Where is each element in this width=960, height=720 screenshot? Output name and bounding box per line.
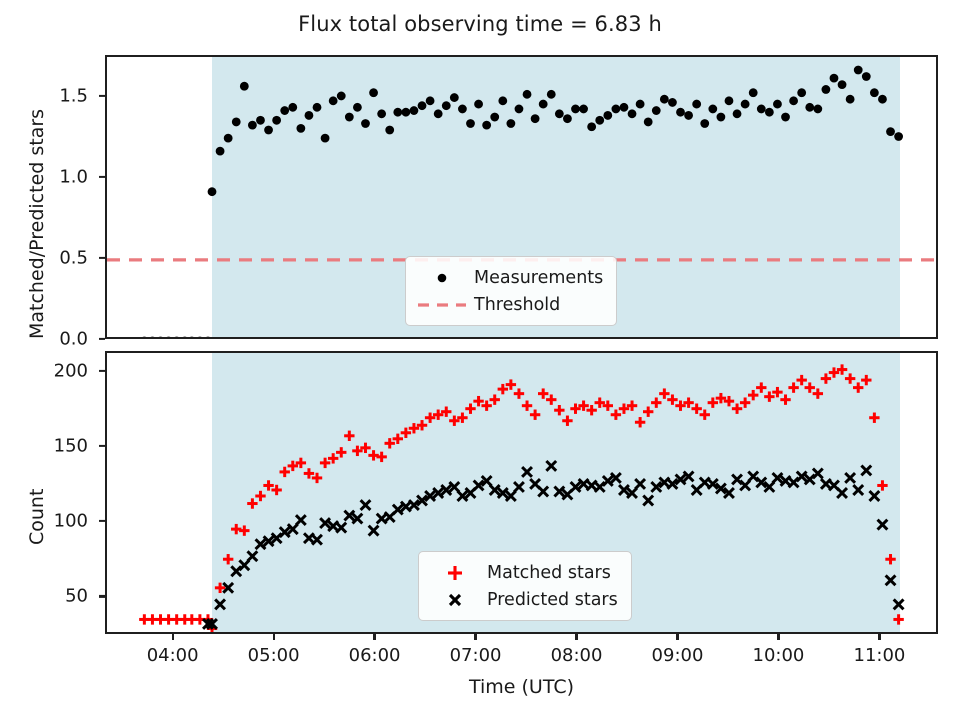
xtick-mark bbox=[575, 634, 577, 640]
dot-marker-icon bbox=[416, 267, 468, 289]
ytick-mark bbox=[99, 595, 105, 597]
legend-label-matched-stars: Matched stars bbox=[487, 563, 611, 583]
ytick-label: 100 bbox=[30, 511, 88, 532]
xtick-label: 06:00 bbox=[335, 645, 415, 666]
ytick-mark bbox=[99, 369, 105, 371]
ytick-mark bbox=[99, 176, 105, 178]
xtick-mark bbox=[373, 634, 375, 640]
xtick-mark bbox=[676, 634, 678, 640]
ytick-label: 1.0 bbox=[30, 166, 88, 187]
x-axis-label: Time (UTC) bbox=[105, 676, 938, 698]
legend-label-measurements: Measurements bbox=[474, 268, 603, 288]
xtick-label: 07:00 bbox=[436, 645, 516, 666]
plus-marker-icon bbox=[429, 562, 481, 584]
ytick-label: 0.5 bbox=[30, 247, 88, 268]
ratio-panel-ylabel: Matched/Predicted stars bbox=[26, 109, 48, 339]
legend-label-predicted-stars: Predicted stars bbox=[487, 590, 618, 610]
ytick-label: 1.5 bbox=[30, 85, 88, 106]
chart-figure: Flux total observing time = 6.83 h Match… bbox=[0, 0, 960, 720]
legend-item-matched-stars: Matched stars bbox=[429, 559, 618, 586]
ratio-panel-legend: Measurements Threshold bbox=[405, 256, 617, 326]
ytick-mark bbox=[99, 445, 105, 447]
ytick-mark bbox=[99, 338, 105, 340]
ytick-label: 200 bbox=[30, 360, 88, 381]
xtick-label: 11:00 bbox=[839, 645, 919, 666]
xtick-mark bbox=[777, 634, 779, 640]
xtick-label: 05:00 bbox=[234, 645, 314, 666]
ytick-mark bbox=[99, 257, 105, 259]
ytick-label: 0.0 bbox=[30, 329, 88, 350]
xtick-mark bbox=[273, 634, 275, 640]
cross-marker-icon bbox=[429, 589, 481, 611]
legend-item-threshold: Threshold bbox=[416, 291, 603, 318]
ytick-mark bbox=[99, 520, 105, 522]
dashed-line-marker-icon bbox=[416, 294, 468, 316]
xtick-label: 04:00 bbox=[133, 645, 213, 666]
xtick-label: 09:00 bbox=[637, 645, 717, 666]
xtick-label: 08:00 bbox=[537, 645, 617, 666]
xtick-mark bbox=[878, 634, 880, 640]
count-panel-legend: Matched stars Predicted stars bbox=[418, 551, 632, 621]
xtick-label: 10:00 bbox=[738, 645, 818, 666]
xtick-mark bbox=[172, 634, 174, 640]
legend-label-threshold: Threshold bbox=[474, 295, 560, 315]
legend-item-measurements: Measurements bbox=[416, 264, 603, 291]
ytick-label: 150 bbox=[30, 435, 88, 456]
chart-title: Flux total observing time = 6.83 h bbox=[0, 12, 960, 36]
xtick-mark bbox=[474, 634, 476, 640]
ytick-label: 50 bbox=[30, 586, 88, 607]
legend-item-predicted-stars: Predicted stars bbox=[429, 586, 618, 613]
ytick-mark bbox=[99, 94, 105, 96]
